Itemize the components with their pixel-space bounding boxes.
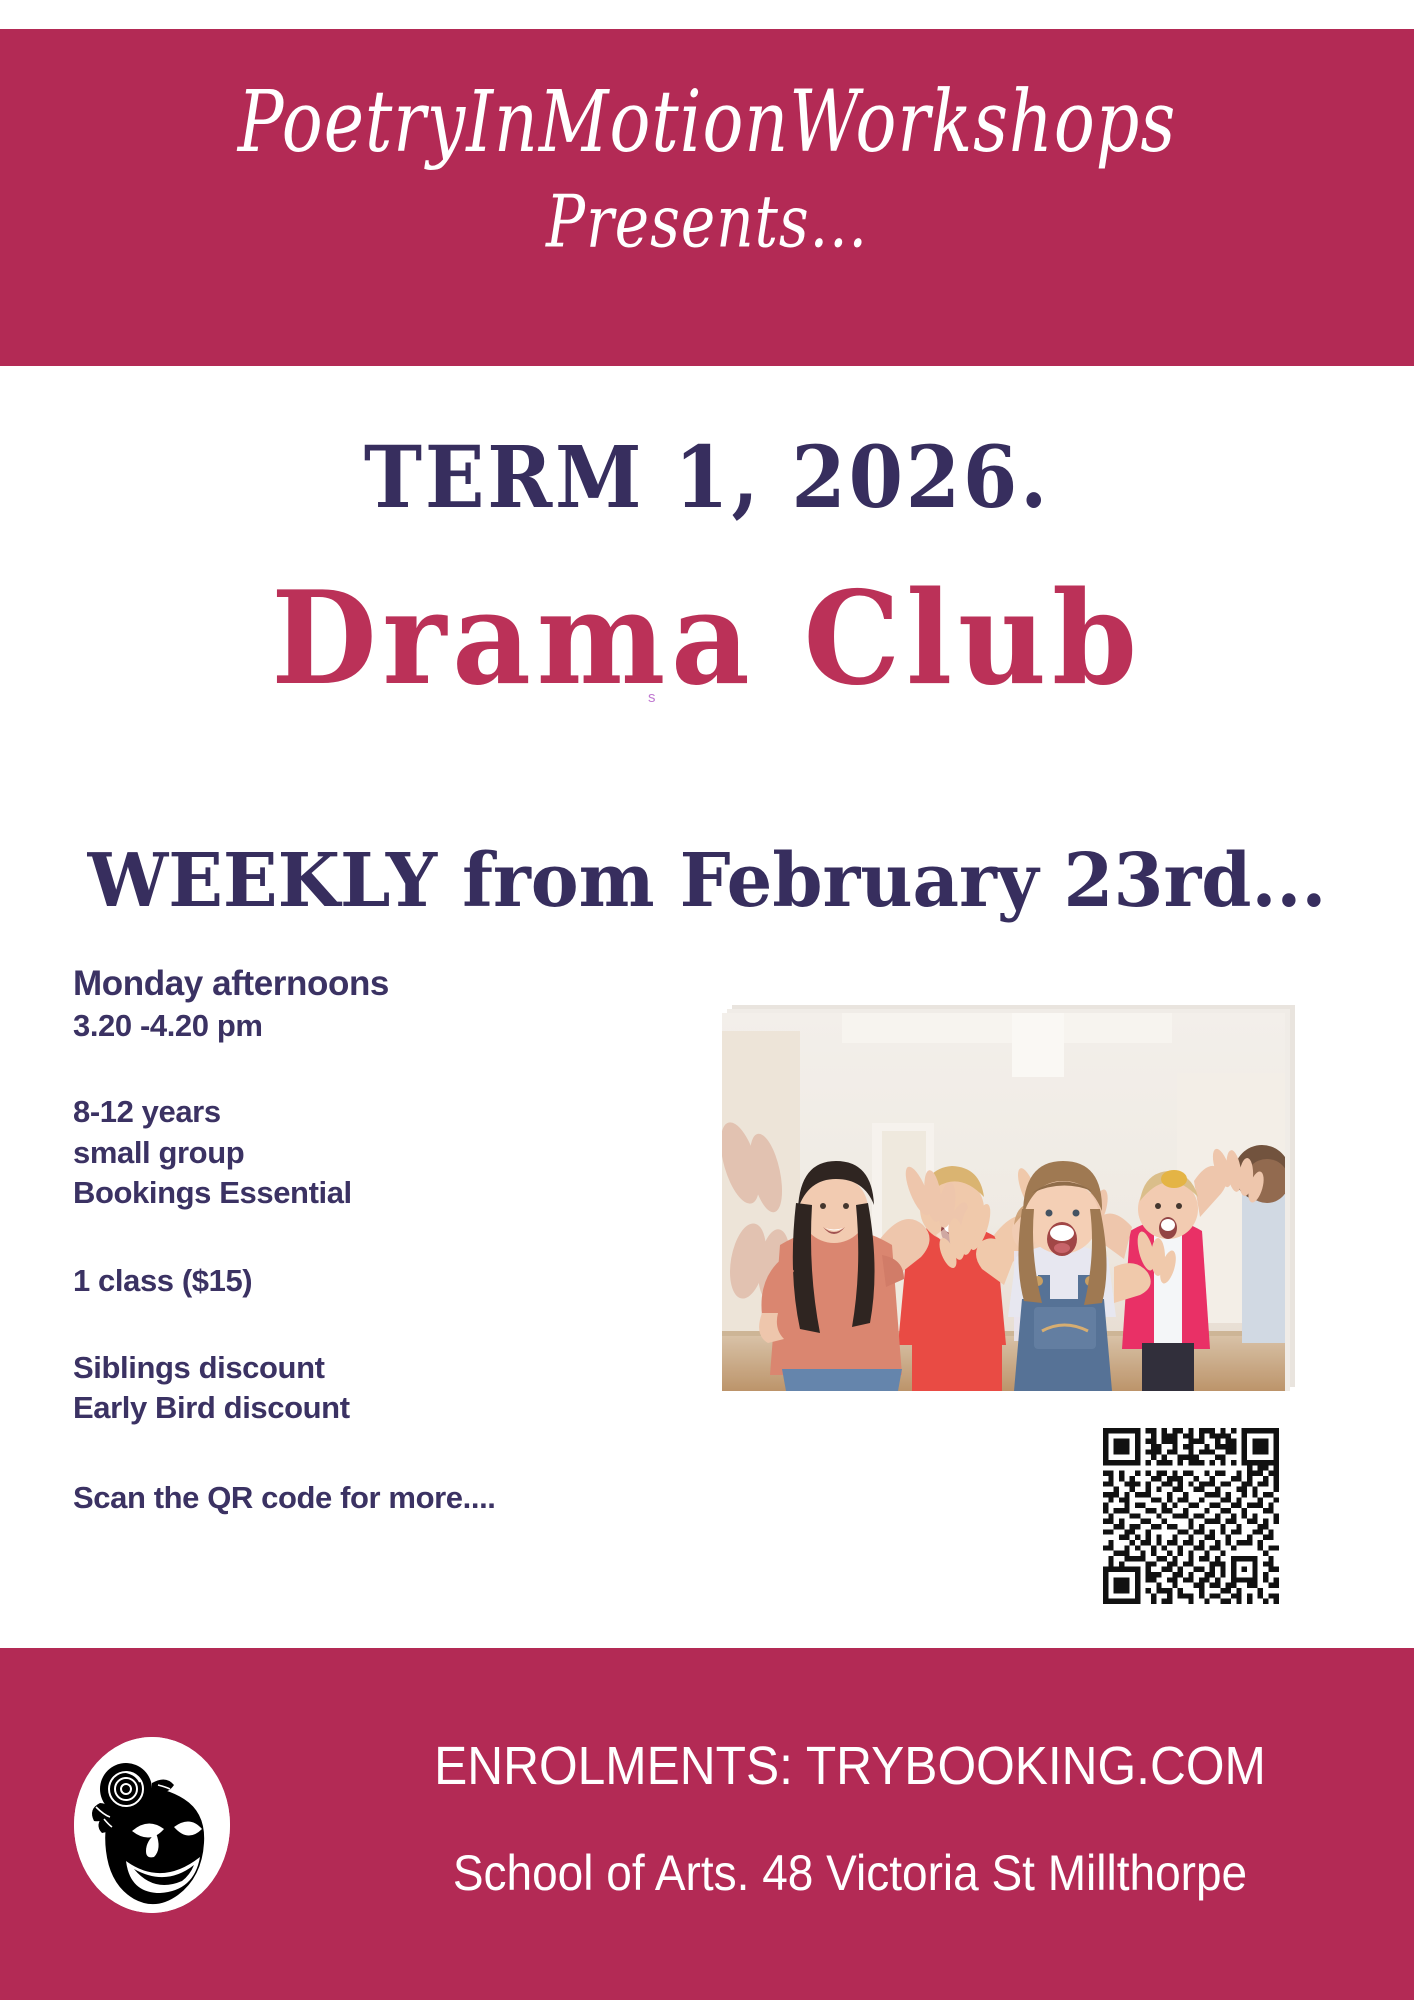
pricing-group: 1 class ($15) (73, 1261, 693, 1301)
detail-qr-prompt: Scan the QR code for more.... (73, 1478, 693, 1518)
drama-class-photo (722, 1013, 1285, 1391)
detail-siblings-discount: Siblings discount (73, 1348, 693, 1388)
enrolments-line[interactable]: ENROLMENTS: TRYBOOKING.COM (381, 1737, 1319, 1796)
detail-group-size: small group (73, 1133, 693, 1173)
detail-time: 3.20 -4.20 pm (73, 1006, 693, 1046)
photo-frame (722, 1013, 1295, 1395)
detail-day: Monday afternoons (73, 962, 693, 1006)
venue-line: School of Arts. 48 Victoria St Millthorp… (381, 1846, 1319, 1901)
footer-text: ENROLMENTS: TRYBOOKING.COM School of Art… (340, 1737, 1360, 1901)
qr-code[interactable] (1103, 1428, 1279, 1604)
schedule-group: Monday afternoons 3.20 -4.20 pm (73, 962, 693, 1046)
eligibility-group: 8-12 years small group Bookings Essentia… (73, 1092, 693, 1213)
page-title: Drama Club (35, 575, 1378, 703)
spacer-1 (73, 1046, 693, 1092)
spacer-3 (73, 1302, 693, 1348)
schedule-headline: WEEKLY from February 23rd... (21, 844, 1393, 918)
poster-canvas: PoetryInMotionWorkshops Presents... TERM… (0, 0, 1414, 2000)
detail-early-bird-discount: Early Bird discount (73, 1388, 693, 1428)
top-banner: PoetryInMotionWorkshops Presents... (0, 29, 1414, 366)
qr-prompt-group: Scan the QR code for more.... (73, 1478, 693, 1518)
detail-price: 1 class ($15) (73, 1261, 693, 1301)
brand-title: PoetryInMotionWorkshops (238, 81, 1176, 166)
presents-subtitle: Presents... (546, 185, 868, 258)
theatre-mask-rose-icon (74, 1737, 230, 1913)
detail-bookings: Bookings Essential (73, 1173, 693, 1213)
term-title: TERM 1, 2026. (57, 436, 1358, 521)
details-column: Monday afternoons 3.20 -4.20 pm 8-12 yea… (73, 962, 693, 1518)
spacer-4 (73, 1428, 693, 1478)
stray-glyph-artifact: s (648, 690, 656, 705)
discounts-group: Siblings discount Early Bird discount (73, 1348, 693, 1429)
spacer-2 (73, 1213, 693, 1261)
detail-ages: 8-12 years (73, 1092, 693, 1132)
